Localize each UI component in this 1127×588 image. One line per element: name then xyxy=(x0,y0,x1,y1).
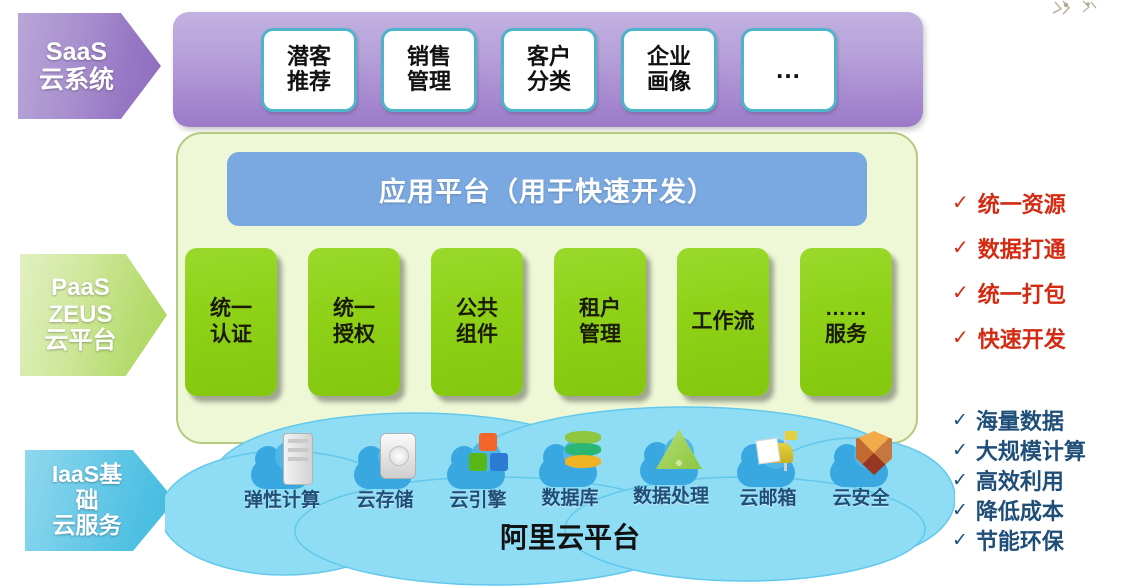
iaas-chevron-line-1: IaaS基 xyxy=(52,462,122,488)
cloud-service-5-label: 云邮箱 xyxy=(739,483,796,510)
paas-box-more-services[interactable]: …… 服务 xyxy=(800,248,892,396)
saas-card-1-line-1: 管理 xyxy=(407,70,451,94)
benefit-item-data-integration: ✓ 数据打通 xyxy=(952,225,1122,270)
cloud-service-2-label: 云引擎 xyxy=(449,485,506,512)
saas-card-3-line-1: 画像 xyxy=(647,70,691,94)
paas-chevron-line-3: 云平台 xyxy=(45,328,117,355)
paas-box-1-line-1: 授权 xyxy=(333,322,375,348)
saas-card-sales-management[interactable]: 销售 管理 xyxy=(381,28,477,112)
cloud-service-elastic-compute[interactable]: 弹性计算 xyxy=(228,437,336,512)
paas-box-workflow[interactable]: 工作流 xyxy=(677,248,769,396)
infra-benefit-label-3: 降低成本 xyxy=(976,494,1064,526)
check-icon: ✓ xyxy=(952,409,968,432)
saas-chevron-line-1: SaaS xyxy=(46,38,107,66)
application-platform-label: 应用平台（用于快速开发） xyxy=(379,170,715,209)
saas-card-customer-segmentation[interactable]: 客户 分类 xyxy=(501,28,597,112)
cloud-service-database[interactable]: 数据库 xyxy=(516,435,624,510)
infra-benefit-item-cost-reduction: ✓ 降低成本 xyxy=(952,495,1127,525)
cloud-service-cloud-mail[interactable]: 云邮箱 xyxy=(714,435,822,510)
saas-layer-chevron: SaaS 云系统 xyxy=(18,13,161,119)
paas-box-0-line-1: 认证 xyxy=(210,322,252,348)
saas-card-1-line-0: 销售 xyxy=(407,45,451,69)
infra-benefit-label-2: 高效利用 xyxy=(976,464,1064,496)
cloud-service-0-label: 弹性计算 xyxy=(244,485,320,512)
paas-box-0-line-0: 统一 xyxy=(210,296,252,322)
paas-box-unified-authorization[interactable]: 统一 授权 xyxy=(308,248,400,396)
iaas-chevron-line-2: 础 xyxy=(76,488,99,514)
paas-box-5-line-0: …… xyxy=(825,296,867,322)
saas-applications-bar: 潜客 推荐 销售 管理 客户 分类 企业 画像 … xyxy=(173,12,923,127)
paas-layer-chevron: PaaS ZEUS 云平台 xyxy=(20,254,167,376)
saas-card-lead-recommendation[interactable]: 潜客 推荐 xyxy=(261,28,357,112)
saas-card-0-line-1: 推荐 xyxy=(287,70,331,94)
cloud-service-cloud-storage[interactable]: 云存储 xyxy=(331,437,439,512)
paas-box-unified-authentication[interactable]: 统一 认证 xyxy=(185,248,277,396)
benefit-label-0: 统一资源 xyxy=(978,187,1066,219)
cloud-disk-icon xyxy=(354,437,416,489)
check-icon: ✓ xyxy=(952,529,968,552)
corner-decoration-icon xyxy=(1039,0,1109,26)
infra-benefit-item-efficient-utilization: ✓ 高效利用 xyxy=(952,465,1127,495)
infra-benefit-item-large-scale-computing: ✓ 大规模计算 xyxy=(952,435,1127,465)
benefit-label-3: 快速开发 xyxy=(978,322,1066,354)
infra-benefit-label-0: 海量数据 xyxy=(976,404,1064,436)
check-icon: ✓ xyxy=(952,469,968,492)
cloud-service-cloud-security[interactable]: 云安全 xyxy=(807,435,915,510)
saas-card-3-line-0: 企业 xyxy=(647,45,691,69)
paas-box-common-components[interactable]: 公共 组件 xyxy=(431,248,523,396)
check-icon: ✓ xyxy=(952,439,968,462)
paas-box-5-line-1: 服务 xyxy=(825,322,867,348)
benefit-item-unified-resource: ✓ 统一资源 xyxy=(952,180,1122,225)
benefit-item-unified-packaging: ✓ 统一打包 xyxy=(952,270,1122,315)
paas-box-3-line-1: 管理 xyxy=(579,322,621,348)
cloud-database-icon xyxy=(539,435,601,487)
saas-card-0-line-0: 潜客 xyxy=(287,45,331,69)
paas-box-tenant-management[interactable]: 租户 管理 xyxy=(554,248,646,396)
iaas-chevron-line-3: 云服务 xyxy=(53,513,122,539)
cloud-tiles-icon xyxy=(447,437,509,489)
check-icon: ✓ xyxy=(952,280,969,305)
paas-chevron-line-2: ZEUS xyxy=(48,302,112,329)
saas-card-2-line-0: 客户 xyxy=(527,45,571,69)
cloud-pyramid-icon xyxy=(640,433,702,485)
check-icon: ✓ xyxy=(952,235,969,260)
paas-box-1-line-0: 统一 xyxy=(333,296,375,322)
cloud-service-1-label: 云存储 xyxy=(356,485,413,512)
saas-card-more[interactable]: … xyxy=(741,28,837,112)
paas-box-4-line-0: 工作流 xyxy=(692,309,755,335)
saas-card-4-line-0: … xyxy=(775,55,803,84)
aliyun-platform-title: 阿里云平台 xyxy=(500,516,640,556)
platform-benefits-list: ✓ 统一资源 ✓ 数据打通 ✓ 统一打包 ✓ 快速开发 xyxy=(952,180,1122,360)
iaas-layer-chevron: IaaS基 础 云服务 xyxy=(25,450,175,551)
check-icon: ✓ xyxy=(952,325,969,350)
infrastructure-benefits-list: ✓ 海量数据 ✓ 大规模计算 ✓ 高效利用 ✓ 降低成本 ✓ 节能环保 xyxy=(952,405,1127,555)
cloud-shield-icon xyxy=(830,435,892,487)
check-icon: ✓ xyxy=(952,190,969,215)
paas-box-3-line-0: 租户 xyxy=(579,296,621,322)
paas-chevron-line-1: PaaS xyxy=(51,275,110,302)
cloud-service-3-label: 数据库 xyxy=(541,483,598,510)
check-icon: ✓ xyxy=(952,499,968,522)
cloud-service-4-label: 数据处理 xyxy=(633,481,709,508)
paas-box-2-line-0: 公共 xyxy=(456,296,498,322)
cloud-service-6-label: 云安全 xyxy=(832,483,889,510)
saas-chevron-line-2: 云系统 xyxy=(39,66,114,94)
infra-benefit-label-1: 大规模计算 xyxy=(976,434,1086,466)
architecture-diagram: SaaS 云系统 潜客 推荐 销售 管理 客户 分类 企业 画像 … PaaS … xyxy=(0,0,1127,588)
saas-card-2-line-1: 分类 xyxy=(527,70,571,94)
infra-benefit-label-4: 节能环保 xyxy=(976,524,1064,556)
application-platform-bar[interactable]: 应用平台（用于快速开发） xyxy=(227,152,867,226)
saas-card-enterprise-profile[interactable]: 企业 画像 xyxy=(621,28,717,112)
paas-box-2-line-1: 组件 xyxy=(456,322,498,348)
infra-benefit-item-energy-saving: ✓ 节能环保 xyxy=(952,525,1127,555)
benefit-item-rapid-development: ✓ 快速开发 xyxy=(952,315,1122,360)
cloud-mailbox-icon xyxy=(737,435,799,487)
infra-benefit-item-massive-data: ✓ 海量数据 xyxy=(952,405,1127,435)
cloud-service-data-processing[interactable]: 数据处理 xyxy=(617,433,725,508)
benefit-label-1: 数据打通 xyxy=(978,232,1066,264)
cloud-server-icon xyxy=(251,437,313,489)
benefit-label-2: 统一打包 xyxy=(978,277,1066,309)
